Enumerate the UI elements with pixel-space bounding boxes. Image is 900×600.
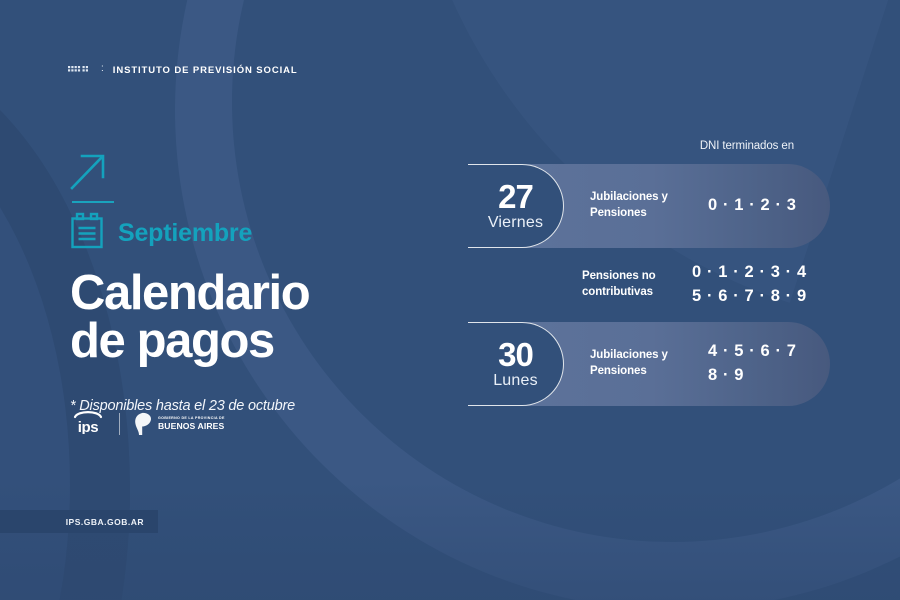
background-bottom-gradient	[0, 480, 900, 600]
row-body: Pensiones no contributivas 0 · 1 · 2 · 3…	[582, 248, 830, 322]
date-capsule: 27 Viernes	[468, 164, 564, 248]
logo-row: ips GOBIERNO DE LA PROVINCIA DE BUENOS A…	[70, 408, 225, 439]
dni-digits-line: 8 · 9	[708, 364, 797, 388]
province-name-label: BUENOS AIRES	[158, 422, 225, 431]
headline-line-2: de pagos	[70, 317, 430, 365]
day-name: Viernes	[488, 214, 543, 232]
dni-digits-line: 5 · 6 · 7 · 8 · 9	[692, 285, 807, 309]
day-number: 27	[498, 180, 533, 213]
buenos-aires-logo: GOBIERNO DE LA PROVINCIA DE BUENOS AIRES	[133, 412, 225, 436]
brand-bar: : INSTITUTO DE PREVISIÓN SOCIAL	[68, 61, 298, 79]
benefit-label: Jubilaciones y Pensiones	[590, 190, 708, 221]
month-row: Septiembre	[70, 212, 430, 255]
calendar-icon	[70, 212, 104, 255]
payment-calendar-poster: : INSTITUTO DE PREVISIÓN SOCIAL	[0, 0, 900, 600]
page-title: Calendario de pagos	[70, 269, 430, 365]
row-body: Jubilaciones y Pensiones 0 · 1 · 2 · 3	[564, 164, 830, 248]
row-body: Jubilaciones y Pensiones 4 · 5 · 6 · 7 8…	[564, 322, 830, 406]
month-label: Septiembre	[118, 219, 252, 248]
dni-digits: 4 · 5 · 6 · 7 8 · 9	[708, 340, 797, 388]
dni-digits-line: 4 · 5 · 6 · 7	[708, 340, 797, 364]
left-content: Septiembre Calendario de pagos * Disponi…	[70, 152, 430, 414]
dni-digits: 0 · 1 · 2 · 3 · 4 5 · 6 · 7 · 8 · 9	[692, 261, 807, 309]
schedule-row: 30 Lunes Jubilaciones y Pensiones 4 · 5 …	[470, 322, 830, 406]
headline-line-1: Calendario	[70, 269, 430, 317]
date-capsule: 30 Lunes	[468, 322, 564, 406]
brand-name: INSTITUTO DE PREVISIÓN SOCIAL	[113, 65, 298, 76]
dni-digits-line: 0 · 1 · 2 · 3	[708, 194, 797, 218]
day-number: 30	[498, 338, 533, 371]
dni-digits-line: 0 · 1 · 2 · 3 · 4	[692, 261, 807, 285]
province-government-label: GOBIERNO DE LA PROVINCIA DE	[158, 417, 225, 421]
website-badge[interactable]: IPS.GBA.GOB.AR	[0, 510, 158, 533]
ips-logo: ips	[70, 408, 106, 439]
website-url: IPS.GBA.GOB.AR	[66, 517, 144, 527]
dni-column-header: DNI terminados en	[470, 140, 830, 152]
schedule-panel: DNI terminados en 27 Viernes Jubilacione…	[470, 140, 830, 406]
dni-digits: 0 · 1 · 2 · 3	[708, 194, 797, 218]
accent-divider	[72, 201, 114, 203]
svg-text:ips: ips	[78, 419, 99, 434]
benefit-label: Pensiones no contributivas	[582, 269, 692, 300]
dot-grid-icon	[68, 61, 92, 79]
schedule-row: Pensiones no contributivas 0 · 1 · 2 · 3…	[470, 248, 830, 322]
arrow-up-right-icon	[70, 152, 430, 195]
day-name: Lunes	[493, 372, 538, 390]
brand-separator: :	[101, 64, 104, 74]
logo-separator	[119, 413, 120, 435]
schedule-row: 27 Viernes Jubilaciones y Pensiones 0 · …	[470, 164, 830, 248]
benefit-label: Jubilaciones y Pensiones	[590, 348, 708, 379]
